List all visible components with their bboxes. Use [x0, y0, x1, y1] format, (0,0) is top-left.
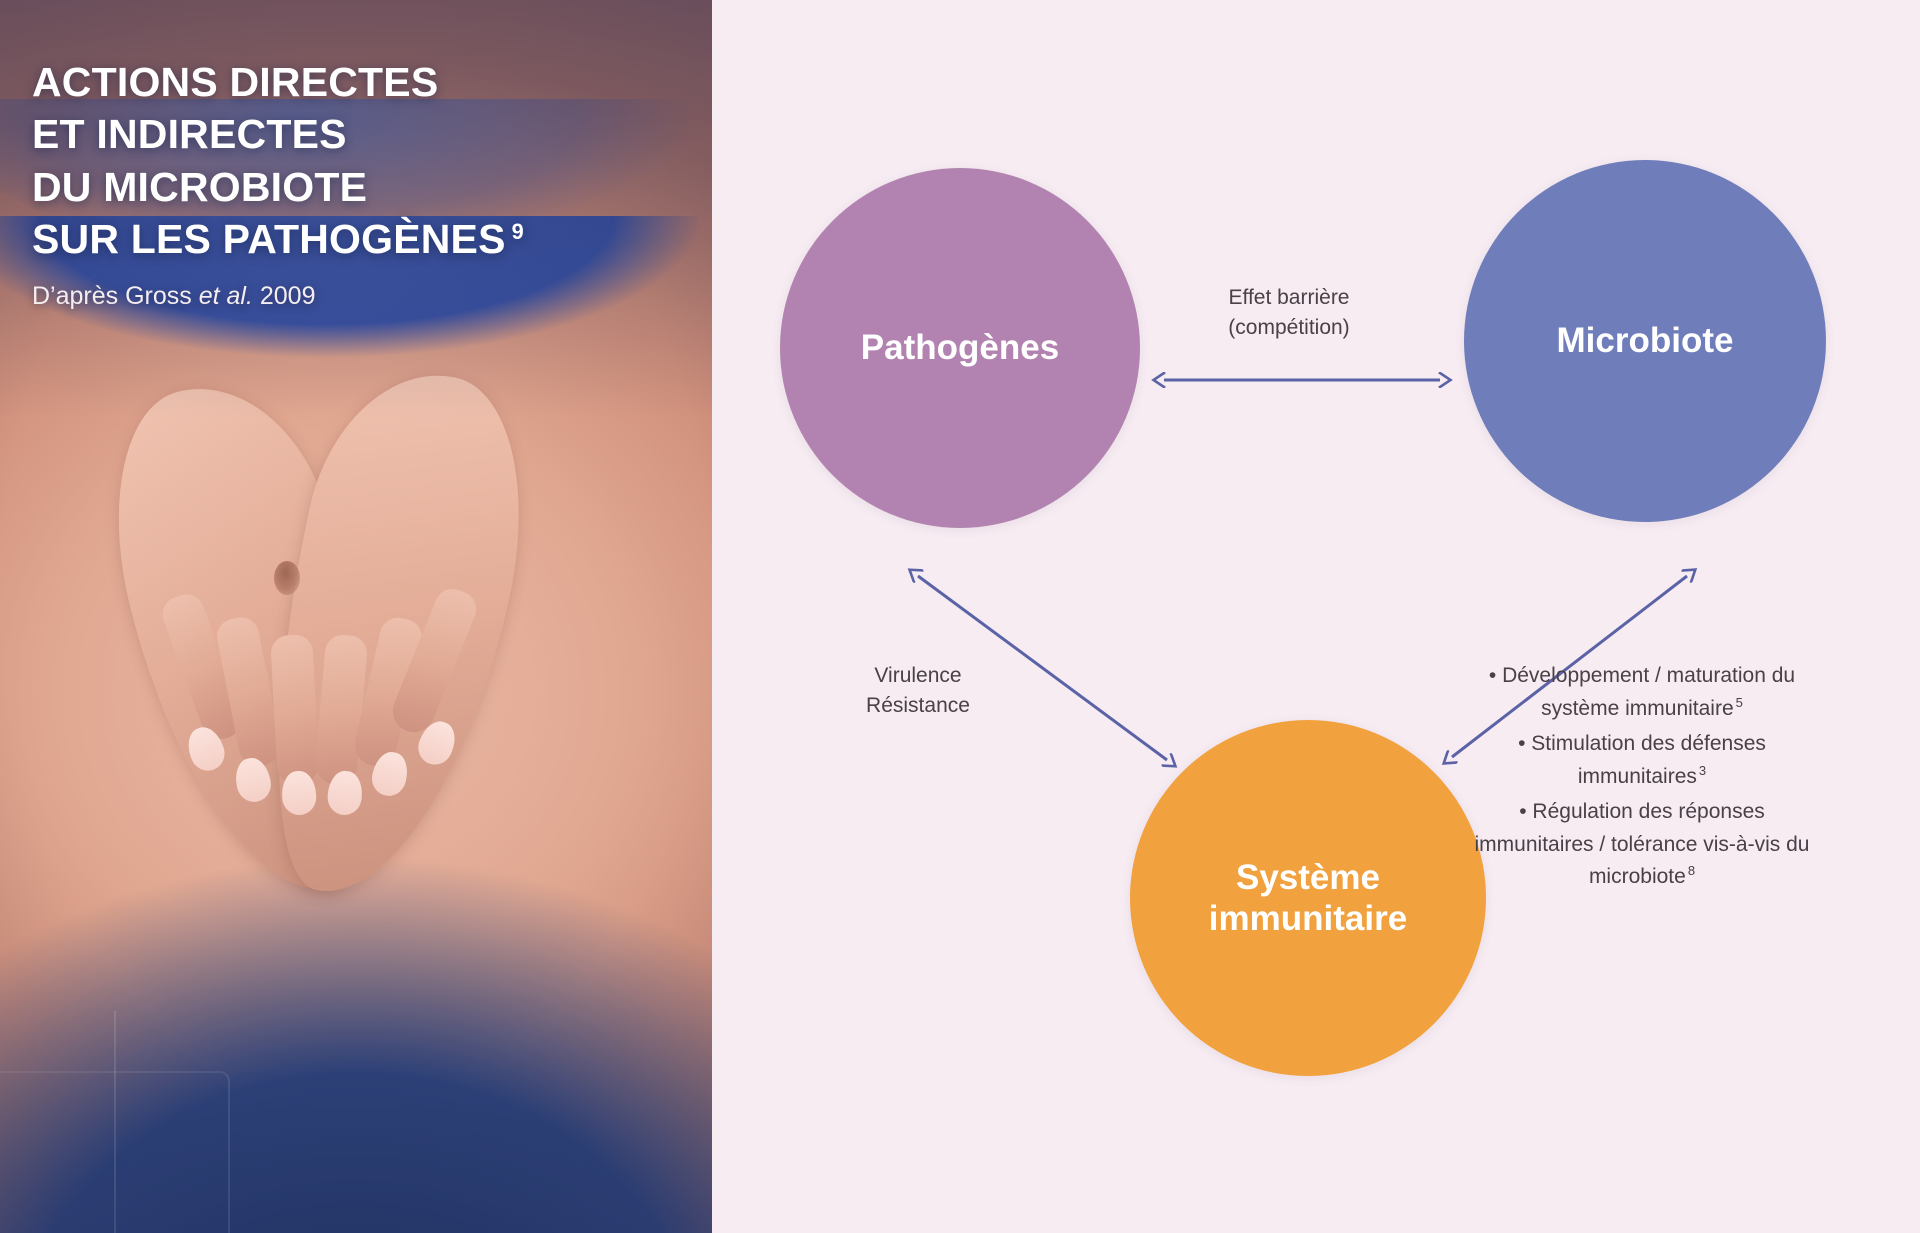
list-item: • Développement / maturation du système …: [1472, 660, 1812, 725]
immune-effect-ref: 8: [1688, 863, 1695, 878]
list-item: • Régulation des réponses immunitaires /…: [1472, 796, 1812, 894]
edge-label-virulence-resistance: Virulence Résistance: [808, 661, 1028, 722]
node-pathogenes-label: Pathogènes: [861, 327, 1059, 368]
node-systeme-immunitaire-label: Système immunitaire: [1209, 857, 1407, 940]
page-title-line-4-text: SUR LES PATHOGÈNES: [32, 216, 506, 262]
immune-effect-text: Stimulation des défenses immunitaires: [1531, 732, 1766, 788]
node-systeme-immunitaire[interactable]: Système immunitaire: [1130, 720, 1486, 1076]
diagram-panel: Pathogènes Microbiote Système immunitair…: [712, 0, 1920, 1233]
source-suffix: 2009: [253, 282, 316, 310]
node-microbiote[interactable]: Microbiote: [1464, 160, 1826, 522]
immune-effects-list: • Développement / maturation du système …: [1472, 660, 1812, 897]
node-pathogenes[interactable]: Pathogènes: [780, 168, 1140, 528]
hero-photo-panel: ACTIONS DIRECTES ET INDIRECTES DU MICROB…: [0, 0, 712, 1233]
immune-effect-ref: 3: [1699, 763, 1706, 778]
slide-root: ACTIONS DIRECTES ET INDIRECTES DU MICROB…: [0, 0, 1920, 1233]
source-italic: et al.: [199, 282, 253, 310]
immune-effect-text: Régulation des réponses immunitaires / t…: [1475, 800, 1810, 888]
list-item: • Stimulation des défenses immunitaires3: [1472, 728, 1812, 793]
page-title-line-4: SUR LES PATHOGÈNES9: [32, 213, 672, 265]
immune-effect-ref: 5: [1736, 695, 1743, 710]
immune-effect-text: Développement / maturation du système im…: [1502, 664, 1795, 720]
edge-label-effet-barriere: Effet barrière (compétition): [1144, 283, 1434, 344]
page-title-reference: 9: [512, 219, 524, 244]
node-microbiote-label: Microbiote: [1557, 320, 1734, 361]
page-title-line-1: ACTIONS DIRECTES: [32, 56, 672, 108]
immune-effects-ul: • Développement / maturation du système …: [1472, 660, 1812, 894]
page-title-line-2: ET INDIRECTES: [32, 108, 672, 160]
source-citation: D’après Gross et al. 2009: [32, 282, 672, 311]
title-block: ACTIONS DIRECTES ET INDIRECTES DU MICROB…: [32, 56, 672, 311]
page-title-line-3: DU MICROBIOTE: [32, 161, 672, 213]
source-prefix: D’après Gross: [32, 282, 199, 310]
